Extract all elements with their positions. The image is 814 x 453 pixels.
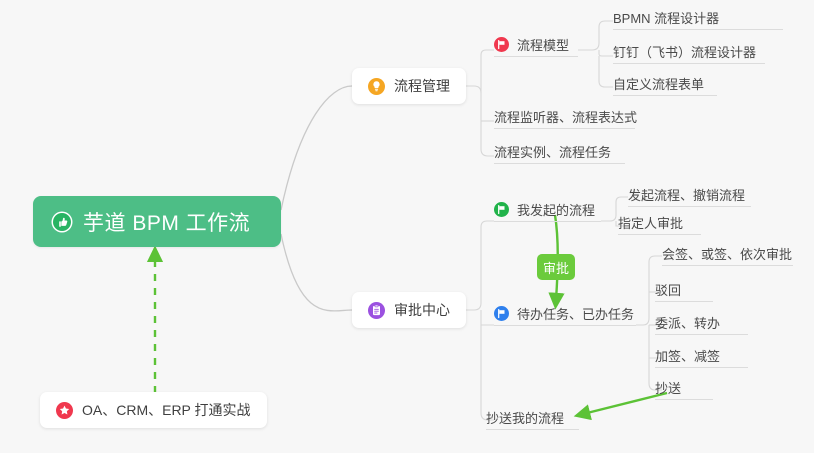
node-process-model[interactable]: 流程模型 [494,35,578,57]
node-reject[interactable]: 驳回 [655,280,713,302]
edge-pmodel-to-custom [599,56,613,87]
node-label: BPMN 流程设计器 [613,11,719,26]
node-label: 会签、或签、依次审批 [662,247,792,262]
edge-root-to-process-management [281,86,352,210]
node-countersign[interactable]: 会签、或签、依次审批 [662,244,793,266]
edge-ac-to-ccprocess [481,325,494,420]
node-label: 我发起的流程 [517,203,595,218]
node-delegate-transfer[interactable]: 委派、转办 [655,313,748,335]
node-label: 自定义流程表单 [613,77,704,92]
node-cc-to-me-process[interactable]: 抄送我的流程 [486,408,579,430]
approval-badge[interactable]: 审批 [537,254,575,280]
thumbs-up-icon [51,211,73,233]
branch-label: 流程管理 [394,76,450,96]
edge-pmodel-to-dingtalk [599,50,613,56]
node-label: 待办任务、已办任务 [517,307,634,322]
note-integration[interactable]: OA、CRM、ERP 打通实战 [40,392,267,428]
branch-label: 审批中心 [394,300,450,320]
node-assignee-approval[interactable]: 指定人审批 [618,213,701,235]
node-label: 委派、转办 [655,316,720,331]
lightbulb-icon [368,78,385,95]
node-todo-done-task[interactable]: 待办任务、已办任务 [494,304,636,326]
edge-pm-to-process-model [481,50,494,93]
edge-pmodel-bracket [578,21,613,50]
star-icon [56,402,73,419]
node-label: 钉钉（飞书）流程设计器 [613,45,756,60]
node-label: 驳回 [655,283,681,298]
edge-ac-bracket [462,221,494,310]
node-label: 流程监听器、流程表达式 [494,110,637,125]
edge-root-to-approval-center [281,234,352,311]
node-label: 抄送我的流程 [486,411,564,426]
node-label: 抄送 [655,381,681,396]
note-label: OA、CRM、ERP 打通实战 [82,400,251,420]
edge-pm-bracket [462,86,494,156]
flag-icon [494,37,509,52]
node-add-remove-sign[interactable]: 加签、减签 [655,346,748,368]
node-process-listener-expression[interactable]: 流程监听器、流程表达式 [494,107,635,129]
node-label: 流程模型 [517,38,569,53]
clipboard-icon [368,302,385,319]
approval-badge-label: 审批 [543,258,569,277]
edge-ac-to-todo [481,310,494,325]
node-custom-process-form[interactable]: 自定义流程表单 [613,74,717,96]
flag-icon [494,306,509,321]
node-bpmn-designer[interactable]: BPMN 流程设计器 [613,8,783,30]
node-start-cancel-process[interactable]: 发起流程、撤销流程 [628,185,751,207]
root-label: 芋道 BPM 工作流 [83,207,250,237]
root-node[interactable]: 芋道 BPM 工作流 [33,196,281,247]
node-label: 指定人审批 [618,216,683,231]
node-label: 流程实例、流程任务 [494,145,611,160]
node-process-instance-task[interactable]: 流程实例、流程任务 [494,142,625,164]
node-dingtalk-feishu-designer[interactable]: 钉钉（飞书）流程设计器 [613,42,765,64]
node-label: 发起流程、撤销流程 [628,188,745,203]
node-my-initiated-process[interactable]: 我发起的流程 [494,200,601,222]
branch-process-management[interactable]: 流程管理 [352,68,466,104]
node-label: 加签、减签 [655,349,720,364]
branch-approval-center[interactable]: 审批中心 [352,292,466,328]
node-cc[interactable]: 抄送 [655,378,713,400]
mindmap-canvas: 芋道 BPM 工作流 流程管理 流程模型 BPMN 流程设计器 钉 [0,0,814,453]
flag-icon [494,202,509,217]
